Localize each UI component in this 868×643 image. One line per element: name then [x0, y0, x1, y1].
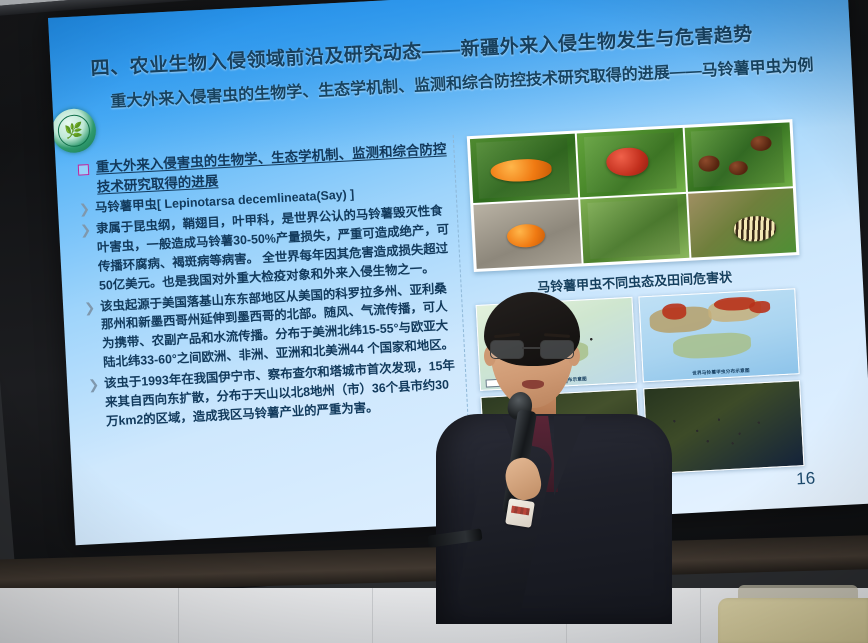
chevron-bullet-icon: ❯ — [84, 299, 97, 317]
mouth — [522, 380, 544, 389]
academy-emblem-icon: 🌿 — [51, 108, 97, 154]
microphone-flag-badge — [505, 498, 535, 528]
photo-beetles-on-plant — [684, 122, 793, 191]
chevron-bullet-icon: ❯ — [88, 376, 101, 394]
photo-larvae-on-leaf — [470, 134, 579, 203]
photo-adult-beetle-striped — [688, 188, 797, 257]
chevron-bullet-icon: ❯ — [79, 200, 92, 218]
chevron-bullet-icon: ❯ — [80, 221, 93, 239]
photo-damaged-foliage — [581, 194, 690, 263]
lapel-right — [554, 416, 586, 496]
slide-page-number: 16 — [796, 468, 816, 489]
presenter — [428, 292, 678, 622]
photo-egg-mass-on-soil — [473, 199, 582, 268]
square-bullet-icon — [78, 164, 90, 176]
slide-header: 四、农业生物入侵领域前沿及研究动态——新疆外来入侵生物发生与危害趋势 重大外来入… — [90, 14, 852, 113]
emblem-plant-glyph: 🌿 — [57, 114, 91, 148]
presentation-room-photo: 四、农业生物入侵领域前沿及研究动态——新疆外来入侵生物发生与危害趋势 重大外来入… — [0, 0, 868, 643]
photo-larva-closeup — [577, 128, 686, 197]
slide-body-text: 重大外来入侵害虫的生物学、生态学机制、监测和综合防控技术研究取得的进展 ❯ 马铃… — [75, 139, 461, 434]
chair — [718, 598, 868, 643]
beetle-photo-grid — [467, 119, 800, 272]
eyeglasses-icon — [488, 340, 578, 358]
